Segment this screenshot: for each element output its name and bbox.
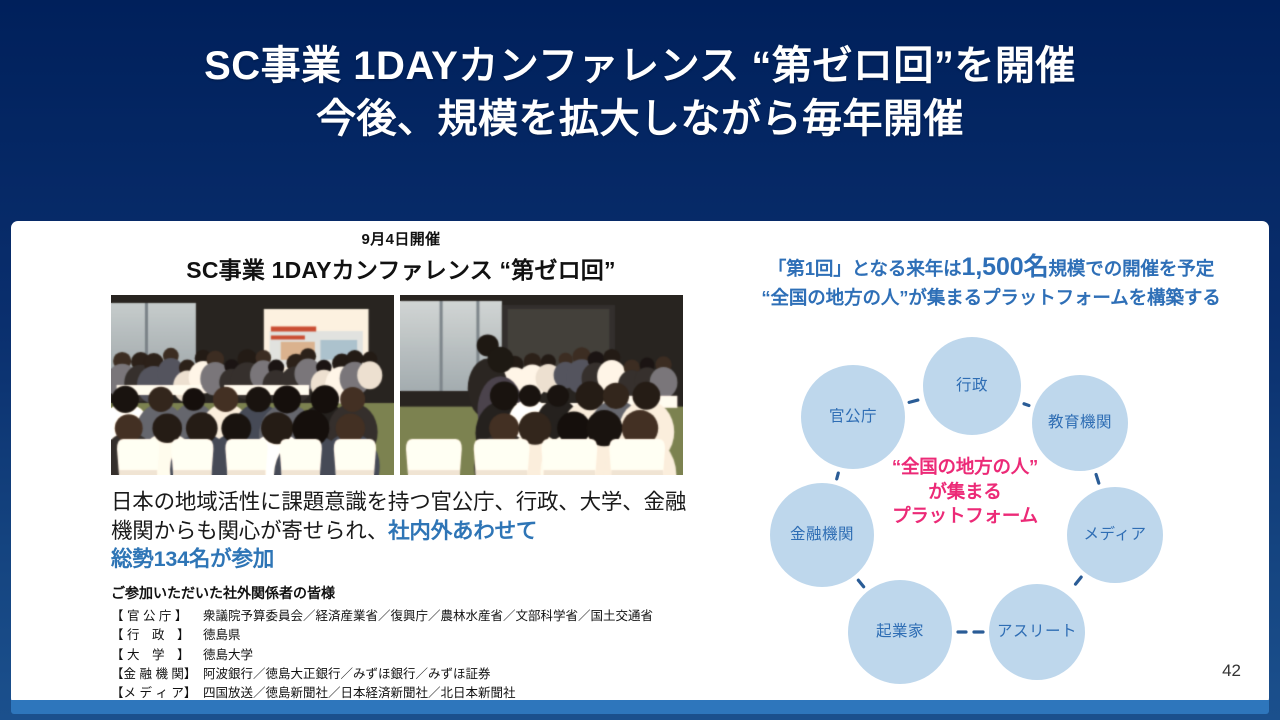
guests-section-title: ご参加いただいた社外関係者の皆様 — [111, 583, 691, 603]
event-date: 9月4日開催 — [111, 228, 691, 249]
diagram-node-2: メディア — [1067, 487, 1163, 583]
guest-category: 【 行 政 】 — [111, 626, 203, 645]
event-name: SC事業 1DAYカンファレンス “第ゼロ回” — [111, 251, 691, 285]
guest-organizations: 徳島大学 — [203, 646, 691, 665]
headline-suffix: 規模での開催を予定 — [1049, 258, 1215, 279]
guest-row: 【 大 学 】徳島大学 — [111, 646, 691, 665]
diagram-node-label: 行政 — [956, 377, 988, 396]
guest-category: 【 大 学 】 — [111, 646, 203, 665]
center-label-line-3: プラットフォーム — [865, 504, 1065, 529]
diagram-node-5: 金融機関 — [770, 483, 874, 587]
right-headline-line-2: “全国の地方の人”が集まるプラットフォームを構築する — [701, 285, 1280, 312]
bottom-accent-bar — [11, 700, 1269, 714]
guests-list: 【 官 公 庁 】衆議院予算委員会／経済産業省／復興庁／農林水産省／文部科学省／… — [111, 607, 691, 704]
center-label-line-1: “全国の地方の人” — [865, 455, 1065, 480]
right-column: 「第1回」となる来年は1,500名規模での開催を予定 “全国の地方の人”が集まる… — [701, 249, 1280, 312]
guest-organizations: 徳島県 — [203, 626, 691, 645]
lead-text-1: 日本の地域活性に課題意識を持つ官公庁、行政、大学、 — [111, 490, 644, 514]
platform-circle-diagram: “全国の地方の人” が集まる プラットフォーム 行政教育機関メディアアスリート起… — [760, 320, 1160, 680]
diagram-center-label: “全国の地方の人” が集まる プラットフォーム — [865, 455, 1065, 529]
slide-title-line-2: 今後、規模を拡大しながら毎年開催 — [0, 93, 1280, 146]
diagram-node-0: 行政 — [923, 337, 1021, 435]
guest-row: 【 官 公 庁 】衆議院予算委員会／経済産業省／復興庁／農林水産省／文部科学省／… — [111, 607, 691, 626]
slide-title-line-1: SC事業 1DAYカンファレンス “第ゼロ回”を開催 — [0, 40, 1280, 93]
guest-organizations: 衆議院予算委員会／経済産業省／復興庁／農林水産省／文部科学省／国土交通省 — [203, 607, 691, 626]
guest-organizations: 阿波銀行／徳島大正銀行／みずほ銀行／みずほ証券 — [203, 665, 691, 684]
guest-category: 【金 融 機 関】 — [111, 665, 203, 684]
diagram-node-label: 教育機関 — [1048, 414, 1112, 433]
page-number: 42 — [1222, 661, 1241, 681]
lead-highlight-1: 社内外あわせて — [388, 519, 537, 543]
lead-highlight-2: 総勢134名が参加 — [111, 547, 274, 571]
center-label-line-2: が集まる — [865, 480, 1065, 505]
diagram-node-3: アスリート — [989, 584, 1085, 680]
diagram-node-label: アスリート — [997, 623, 1077, 642]
left-column: 9月4日開催 SC事業 1DAYカンファレンス “第ゼロ回” 日本の地域活性に課… — [111, 228, 691, 704]
guest-row: 【金 融 機 関】阿波銀行／徳島大正銀行／みずほ銀行／みずほ証券 — [111, 665, 691, 684]
diagram-node-label: 起業家 — [876, 623, 924, 642]
conference-photo-discussion — [400, 295, 683, 475]
headline-prefix: 「第1回」となる来年は — [768, 258, 962, 279]
slide-title: SC事業 1DAYカンファレンス “第ゼロ回”を開催 今後、規模を拡大しながら毎… — [0, 40, 1280, 146]
headline-participant-count: 1,500名 — [962, 253, 1049, 281]
diagram-node-4: 起業家 — [848, 580, 952, 684]
lead-paragraph: 日本の地域活性に課題意識を持つ官公庁、行政、大学、金融機関からも関心が寄せられ、… — [111, 488, 691, 574]
diagram-node-6: 官公庁 — [801, 365, 905, 469]
right-headline-line-1: 「第1回」となる来年は1,500名規模での開催を予定 — [701, 249, 1280, 285]
guest-row: 【 行 政 】徳島県 — [111, 626, 691, 645]
conference-photo-audience — [111, 295, 394, 475]
guest-category: 【 官 公 庁 】 — [111, 607, 203, 626]
diagram-node-1: 教育機関 — [1032, 375, 1128, 471]
diagram-node-label: 官公庁 — [829, 408, 877, 427]
diagram-node-label: 金融 — [790, 526, 822, 545]
diagram-node-label: メディア — [1084, 526, 1147, 545]
diagram-node-label: 機関 — [822, 526, 854, 545]
photo-gallery — [111, 295, 691, 475]
